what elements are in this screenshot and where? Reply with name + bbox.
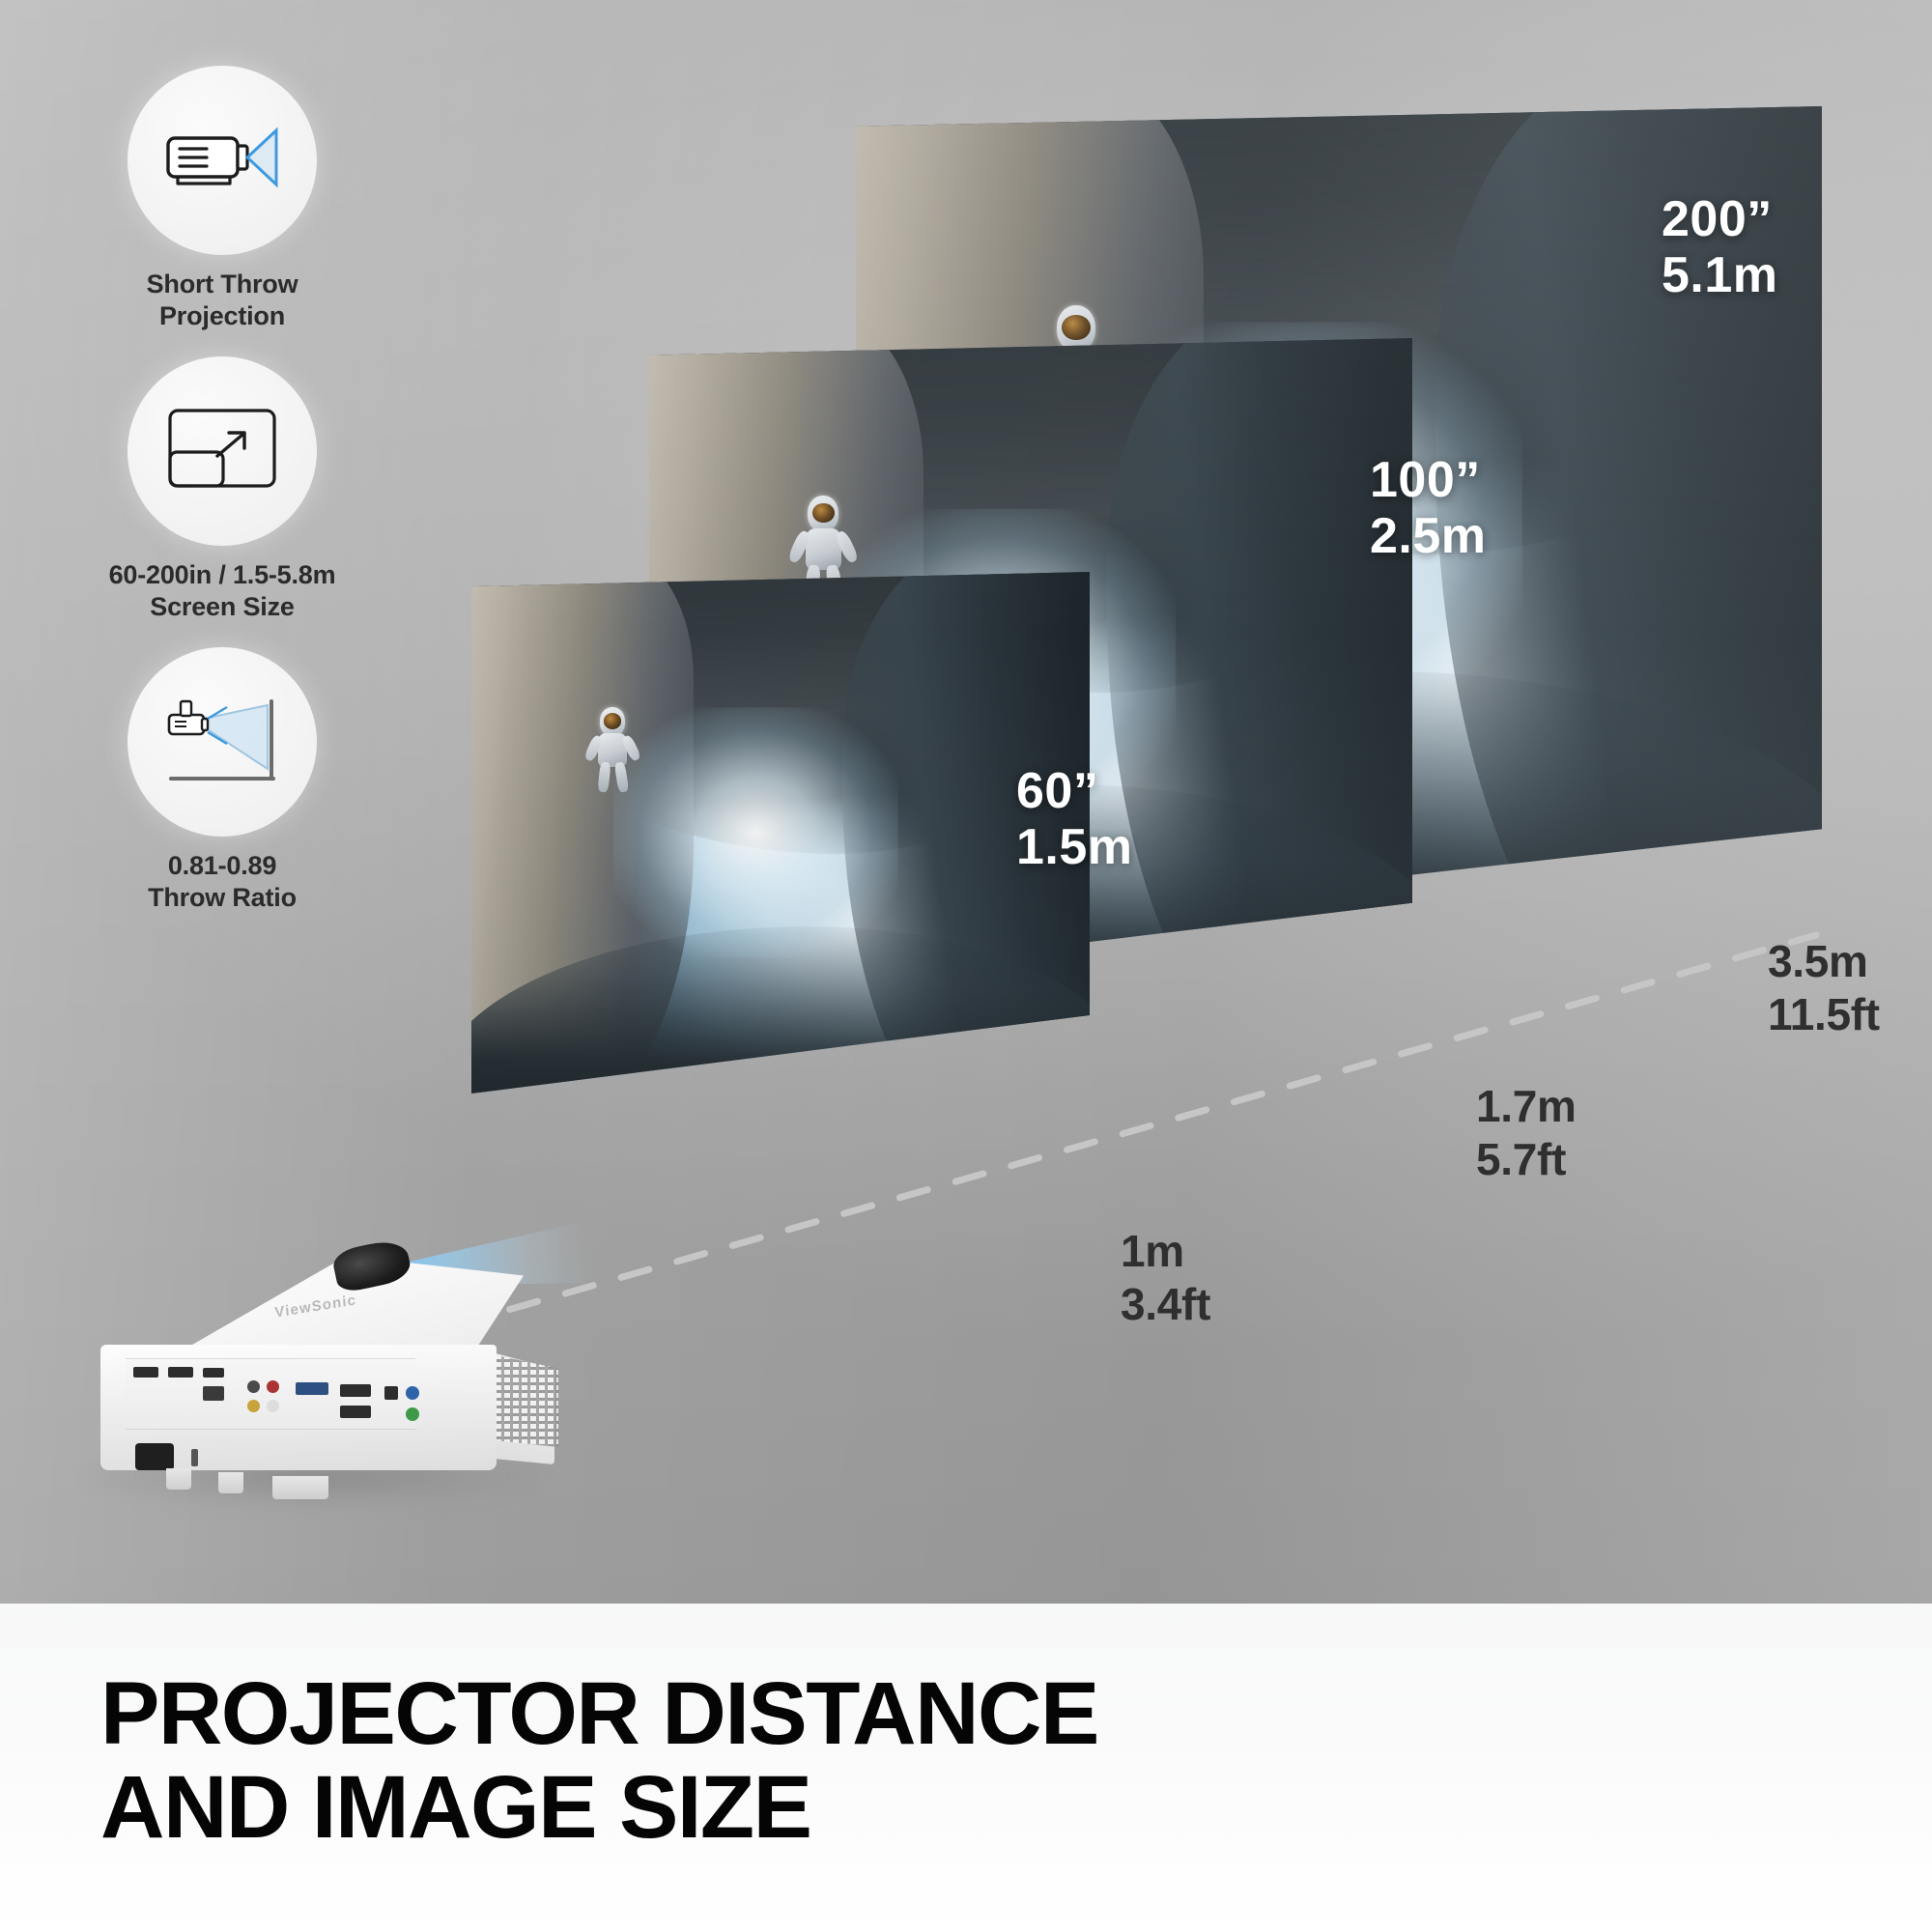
feature-icon-circle <box>128 66 317 255</box>
distance-meters: 1.7m <box>1476 1080 1577 1133</box>
power-socket <box>135 1443 174 1470</box>
feature-label-line1: 0.81-0.89 <box>58 850 386 882</box>
serial-port <box>340 1384 371 1397</box>
vga-port <box>296 1382 328 1395</box>
page-title: PROJECTOR DISTANCE AND IMAGE SIZE <box>100 1667 1098 1854</box>
distance-label-200: 3.5m 11.5ft <box>1768 935 1880 1041</box>
feature-label: 60-200in / 1.5-5.8m Screen Size <box>58 559 386 624</box>
size-meters: 1.5m <box>1016 819 1133 875</box>
screen-artwork <box>471 572 1090 1094</box>
size-inches: 100” <box>1370 452 1487 508</box>
feature-label: Short Throw Projection <box>58 269 386 333</box>
feature-label-line2: Screen Size <box>58 591 386 623</box>
rca-white-port <box>267 1400 279 1412</box>
rca-yellow-port <box>247 1400 260 1412</box>
distance-label-100: 1.7m 5.7ft <box>1476 1080 1577 1186</box>
distance-feet: 5.7ft <box>1476 1133 1577 1186</box>
svideo-port <box>247 1380 260 1393</box>
size-meters: 2.5m <box>1370 508 1487 564</box>
rca-red-port <box>267 1380 279 1393</box>
audio-port <box>384 1386 398 1400</box>
distance-feet: 3.4ft <box>1121 1278 1210 1331</box>
feature-list: Short Throw Projection 60-200in / 1.5-5.… <box>58 66 386 938</box>
projector-foot <box>272 1476 328 1499</box>
audio-out-port <box>406 1407 419 1421</box>
projector-foot <box>166 1468 191 1490</box>
feature-label-line1: 60-200in / 1.5-5.8m <box>58 559 386 591</box>
usb-port <box>203 1368 224 1378</box>
security-slot <box>191 1449 198 1466</box>
hdmi-port <box>133 1367 158 1378</box>
distance-label-60: 1m 3.4ft <box>1121 1225 1210 1331</box>
screen-60 <box>471 572 1090 1094</box>
feature-label-line1: Short Throw <box>58 269 386 300</box>
screen-200-size-label: 200” 5.1m <box>1662 191 1778 303</box>
lan-port <box>203 1386 224 1401</box>
projector-beam-icon <box>164 117 280 205</box>
projector-foot <box>218 1472 243 1493</box>
throw-ratio-icon <box>159 686 285 797</box>
projector-io-panel <box>126 1358 415 1430</box>
page-title-line1: PROJECTOR DISTANCE <box>100 1667 1098 1761</box>
feature-screen-size: 60-200in / 1.5-5.8m Screen Size <box>58 356 386 624</box>
distance-meters: 1m <box>1121 1225 1210 1278</box>
feature-throw-ratio: 0.81-0.89 Throw Ratio <box>58 647 386 915</box>
astronaut-figure <box>595 707 630 790</box>
screen-60-size-label: 60” 1.5m <box>1016 763 1133 875</box>
size-inches: 60” <box>1016 763 1133 819</box>
feature-label-line2: Projection <box>58 300 386 332</box>
bottom-banner: PROJECTOR DISTANCE AND IMAGE SIZE <box>0 1604 1932 1932</box>
hero-stage: Short Throw Projection 60-200in / 1.5-5.… <box>0 0 1932 1604</box>
serial-port <box>340 1406 371 1418</box>
screen-resize-icon <box>165 406 279 496</box>
feature-icon-circle <box>128 356 317 546</box>
distance-feet: 11.5ft <box>1768 988 1880 1041</box>
feature-label: 0.81-0.89 Throw Ratio <box>58 850 386 915</box>
screen-100-size-label: 100” 2.5m <box>1370 452 1487 564</box>
distance-meters: 3.5m <box>1768 935 1880 988</box>
size-meters: 5.1m <box>1662 247 1778 303</box>
feature-label-line2: Throw Ratio <box>58 882 386 914</box>
feature-icon-circle <box>128 647 317 837</box>
audio-in-port <box>406 1386 419 1400</box>
feature-short-throw: Short Throw Projection <box>58 66 386 333</box>
page-title-line2: AND IMAGE SIZE <box>100 1761 1098 1855</box>
projector-device: ViewSonic <box>93 1227 634 1575</box>
hdmi-port <box>168 1367 193 1378</box>
size-inches: 200” <box>1662 191 1778 247</box>
